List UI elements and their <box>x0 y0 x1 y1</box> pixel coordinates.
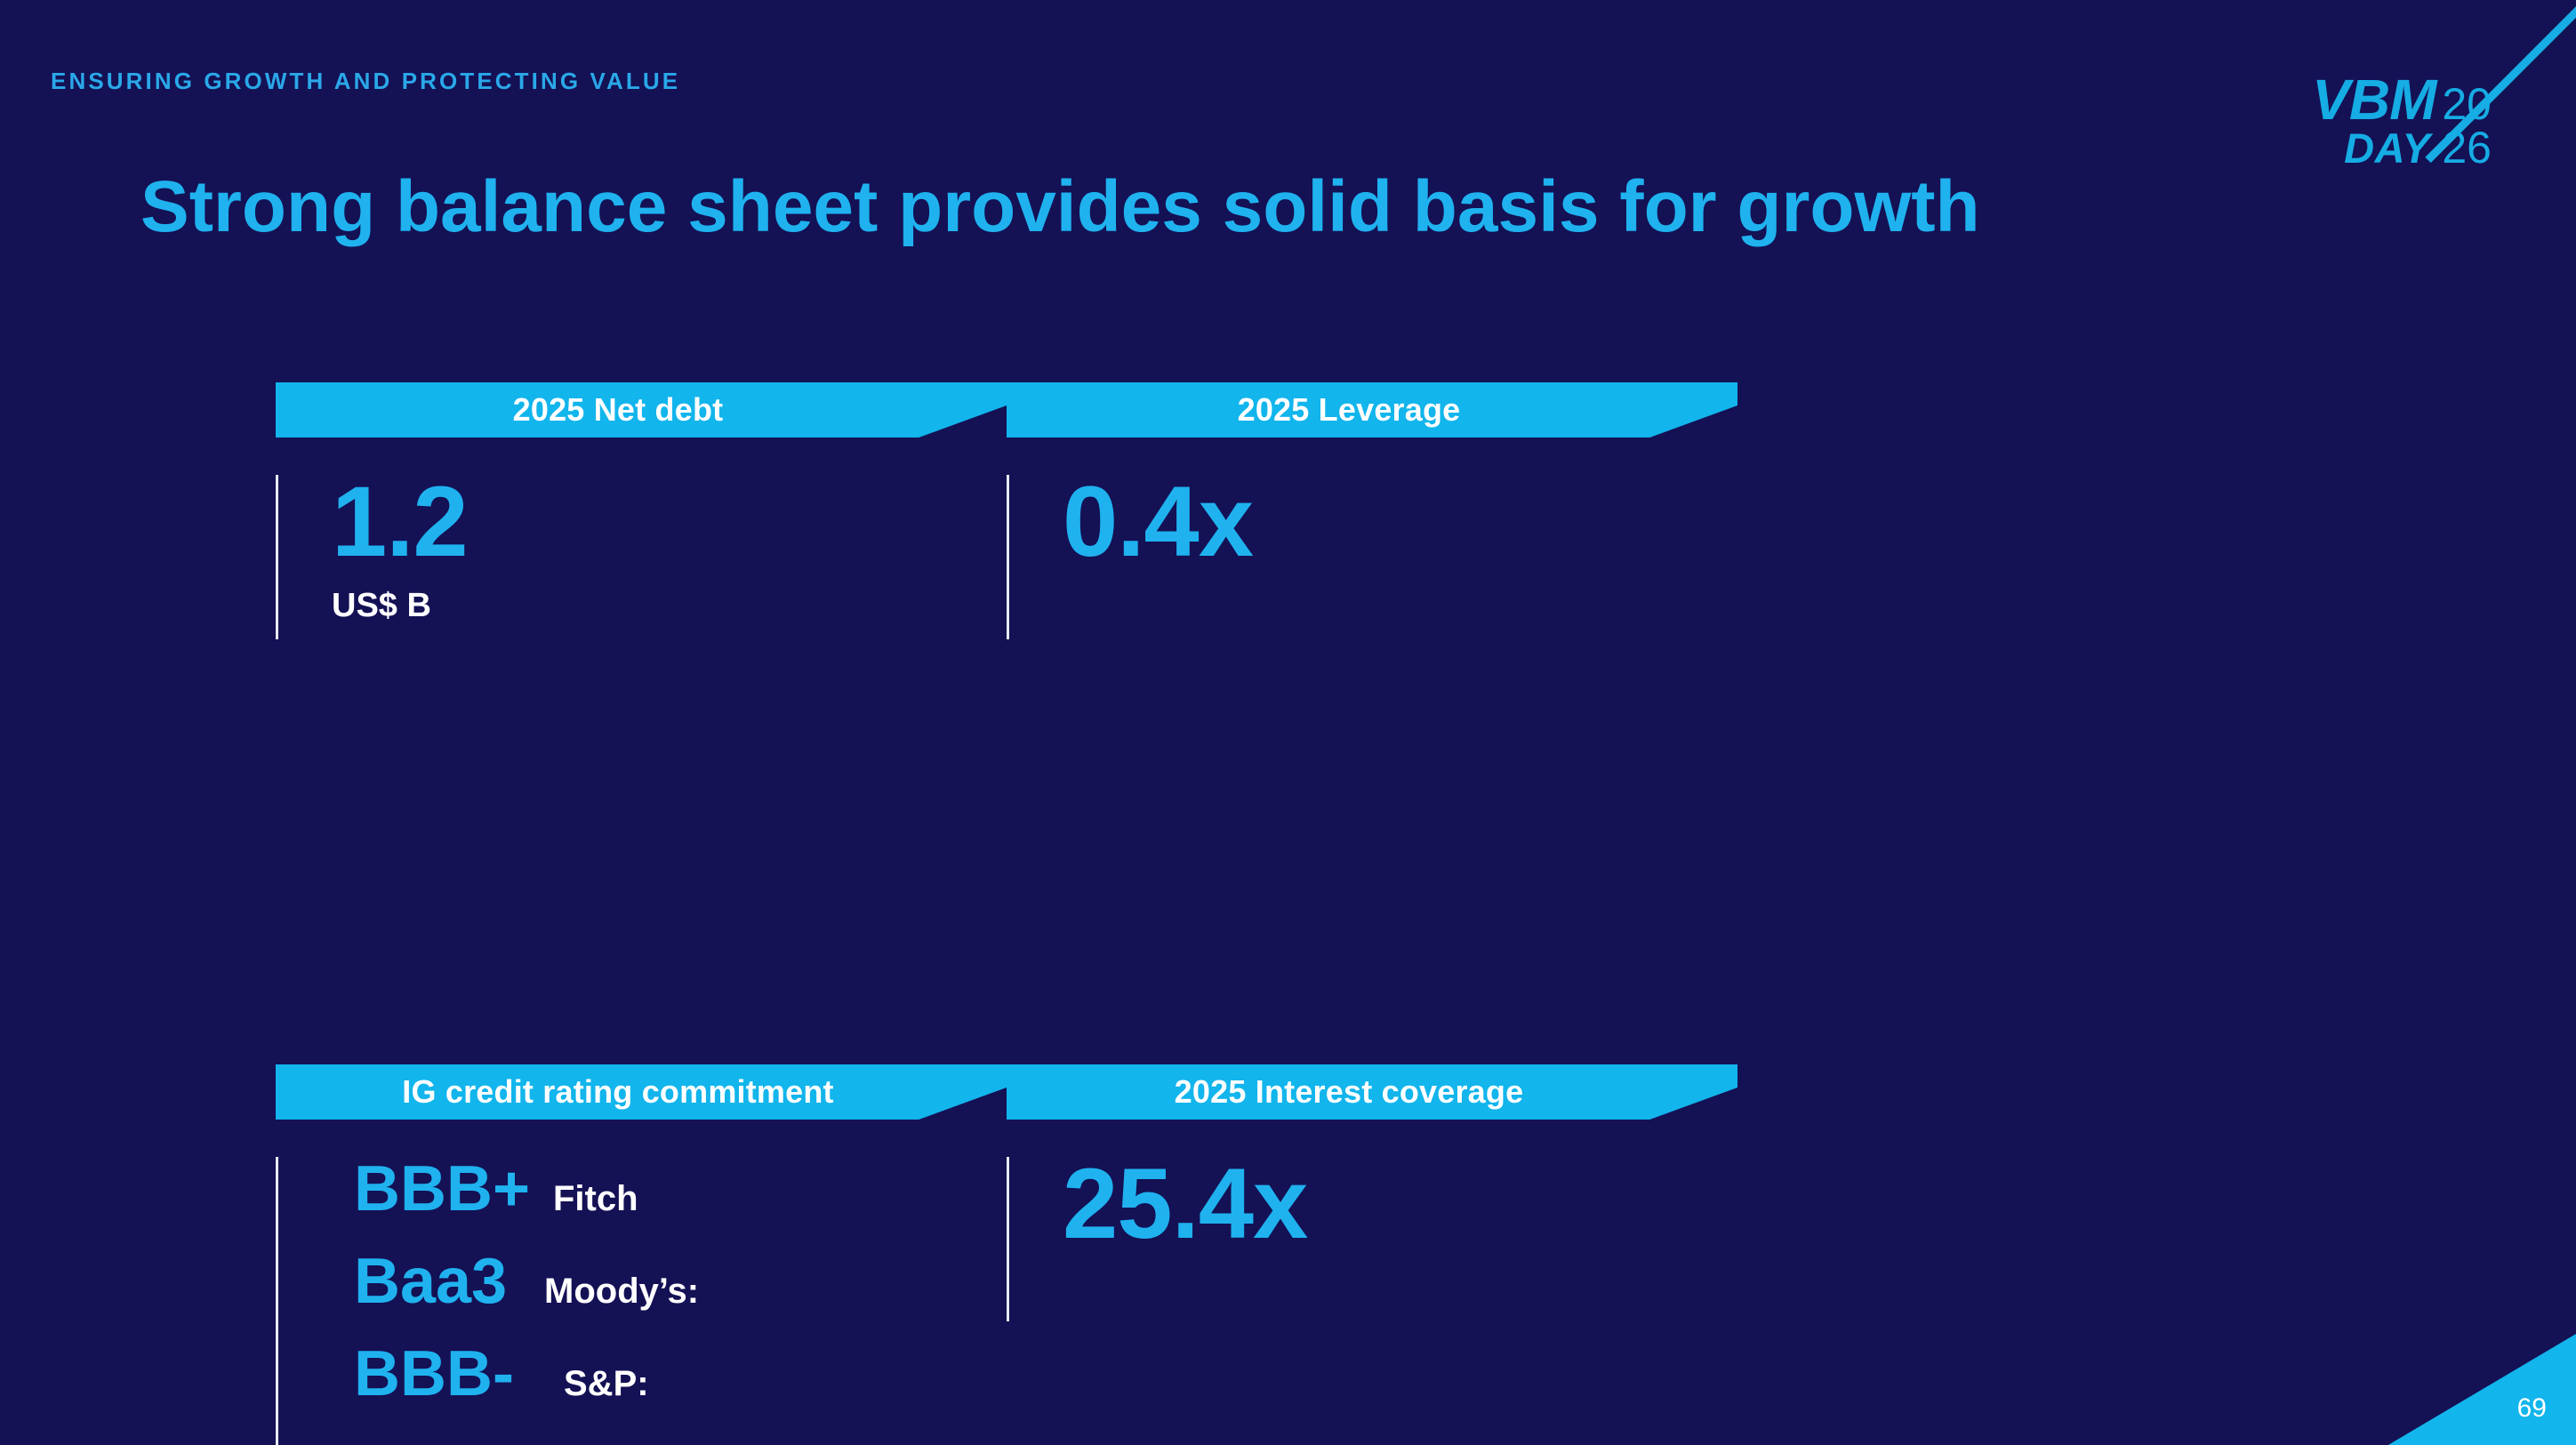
rating-agency: S&P: <box>564 1364 649 1404</box>
page-title: Strong balance sheet provides solid basi… <box>140 171 1980 244</box>
rating-row: Baa3 Moody’s: <box>354 1249 1007 1313</box>
metric-card-credit-rating: IG credit rating commitment BBB+ Fitch B… <box>276 1064 1007 1445</box>
metric-card-row-1: 2025 Net debt 1.2 US$ B 2025 Leverage 0.… <box>276 382 1876 639</box>
metric-card-leverage: 2025 Leverage 0.4x <box>1007 382 1737 639</box>
logo-day-text: DAY <box>2344 129 2430 169</box>
rating-agency: Fitch <box>553 1179 638 1219</box>
logo-year-top: 20 <box>2442 84 2492 126</box>
card-body-credit-rating: BBB+ Fitch Baa3 Moody’s: BBB- S&P: <box>276 1157 1007 1445</box>
logo-row-top: VBM 20 <box>2225 73 2492 127</box>
page-number: 69 <box>2517 1393 2547 1424</box>
card-header-banner-leverage: 2025 Leverage <box>1007 382 1737 438</box>
card-header-banner-credit-rating: IG credit rating commitment <box>276 1064 1007 1120</box>
logo-year-bottom: 26 <box>2442 127 2492 170</box>
metric-card-interest-coverage: 2025 Interest coverage 25.4x <box>1007 1064 1737 1445</box>
rating-grade: BBB+ <box>354 1157 532 1221</box>
metric-value-interest-coverage: 25.4x <box>1063 1157 1737 1251</box>
rating-row: BBB- S&P: <box>354 1342 1007 1406</box>
metric-card-row-2: IG credit rating commitment BBB+ Fitch B… <box>276 1064 1876 1445</box>
metric-value-leverage: 0.4x <box>1063 475 1737 569</box>
metric-unit-net-debt: US$ B <box>332 587 1007 625</box>
card-header-label: IG credit rating commitment <box>402 1073 833 1111</box>
rating-grade: BBB- <box>354 1342 532 1406</box>
slide-eyebrow: ENSURING GROWTH AND PROTECTING VALUE <box>51 68 680 95</box>
card-header-label: 2025 Leverage <box>1238 391 1461 429</box>
card-header-banner-interest-coverage: 2025 Interest coverage <box>1007 1064 1737 1120</box>
metric-card-net-debt: 2025 Net debt 1.2 US$ B <box>276 382 1007 639</box>
card-header-banner-net-debt: 2025 Net debt <box>276 382 1007 438</box>
page-corner-accent <box>2363 1334 2576 1445</box>
card-header-label: 2025 Net debt <box>513 391 724 429</box>
card-body-interest-coverage: 25.4x <box>1007 1157 1737 1321</box>
card-body-net-debt: 1.2 US$ B <box>276 475 1007 639</box>
rating-agency: Moody’s: <box>544 1272 699 1312</box>
logo-row-bottom: DAY 26 <box>2225 127 2492 170</box>
metric-value-net-debt: 1.2 <box>332 475 1007 569</box>
rating-row: BBB+ Fitch <box>354 1157 1007 1221</box>
card-header-label: 2025 Interest coverage <box>1175 1073 1524 1111</box>
card-body-leverage: 0.4x <box>1007 475 1737 639</box>
metric-cards-grid: 2025 Net debt 1.2 US$ B 2025 Leverage 0.… <box>276 382 1876 1445</box>
logo-brand-text: VBM <box>2312 73 2436 127</box>
vbm-day-logo: VBM 20 DAY 26 <box>2225 73 2492 180</box>
slide-canvas: ENSURING GROWTH AND PROTECTING VALUE Str… <box>0 0 2576 1445</box>
rating-grade: Baa3 <box>354 1249 532 1313</box>
